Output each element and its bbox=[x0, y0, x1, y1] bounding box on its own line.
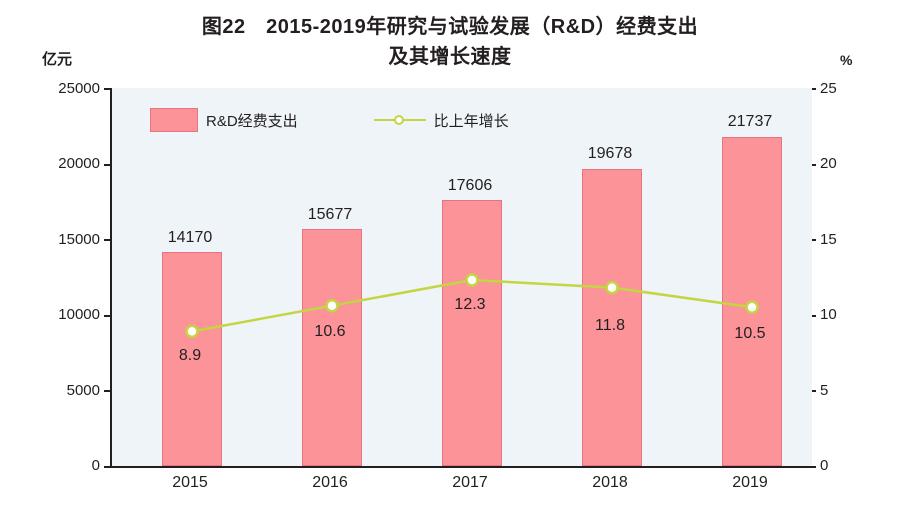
legend-item-bar: R&D经费支出 bbox=[150, 108, 298, 132]
chart-title-line2: 及其增长速度 bbox=[0, 42, 900, 72]
growth-point-2016 bbox=[327, 300, 338, 311]
y-tick-right-25: 25 bbox=[820, 80, 860, 97]
growth-value-2015: 8.9 bbox=[130, 347, 250, 365]
x-tick-2019: 2019 bbox=[690, 474, 810, 492]
legend-swatch-bar-icon bbox=[150, 108, 198, 132]
y-tick-right-15: 15 bbox=[820, 231, 860, 248]
x-tick-2017: 2017 bbox=[410, 474, 530, 492]
legend-label-bar: R&D经费支出 bbox=[206, 110, 298, 131]
growth-point-2018 bbox=[607, 282, 618, 293]
y-tick-left-20000: 20000 bbox=[30, 155, 100, 172]
y-tick-right-5: 5 bbox=[820, 382, 860, 399]
y-axis-unit-left: 亿元 bbox=[42, 48, 72, 69]
y-tick-right-0: 0 bbox=[820, 457, 860, 474]
chart-figure: 图22 2015-2019年研究与试验发展（R&D）经费支出 及其增长速度 亿元… bbox=[0, 0, 900, 532]
bar-value-2016: 15677 bbox=[270, 206, 390, 224]
x-tick-2016: 2016 bbox=[270, 474, 390, 492]
bar-value-2018: 19678 bbox=[550, 145, 670, 163]
y-tick-left-15000: 15000 bbox=[30, 231, 100, 248]
plot-area bbox=[110, 88, 812, 468]
growth-value-2019: 10.5 bbox=[690, 325, 810, 343]
y-tick-left-5000: 5000 bbox=[30, 382, 100, 399]
bar-value-2015: 14170 bbox=[130, 229, 250, 247]
growth-value-2018: 11.8 bbox=[550, 317, 670, 335]
x-tick-2018: 2018 bbox=[550, 474, 670, 492]
legend-label-line: 比上年增长 bbox=[434, 110, 509, 131]
chart-title-line1: 图22 2015-2019年研究与试验发展（R&D）经费支出 bbox=[202, 16, 698, 38]
y-tick-left-0: 0 bbox=[30, 457, 100, 474]
y-axis-unit-right: % bbox=[840, 52, 852, 68]
legend-line-marker-icon bbox=[374, 113, 426, 127]
bar-value-2019: 21737 bbox=[690, 113, 810, 131]
chart-legend: R&D经费支出 比上年增长 bbox=[150, 108, 509, 132]
bar-value-2017: 17606 bbox=[410, 177, 530, 195]
chart-title: 图22 2015-2019年研究与试验发展（R&D）经费支出 及其增长速度 bbox=[0, 12, 900, 72]
y-tick-right-20: 20 bbox=[820, 155, 860, 172]
y-tick-right-10: 10 bbox=[820, 306, 860, 323]
growth-point-2015 bbox=[187, 326, 198, 337]
x-tick-2015: 2015 bbox=[130, 474, 250, 492]
growth-point-2019 bbox=[747, 302, 758, 313]
growth-point-2017 bbox=[467, 275, 478, 286]
growth-value-2017: 12.3 bbox=[410, 296, 530, 314]
legend-item-line: 比上年增长 bbox=[374, 110, 509, 131]
y-tick-left-25000: 25000 bbox=[30, 80, 100, 97]
growth-value-2016: 10.6 bbox=[270, 323, 390, 341]
y-tick-left-10000: 10000 bbox=[30, 306, 100, 323]
growth-line-series bbox=[112, 88, 812, 466]
